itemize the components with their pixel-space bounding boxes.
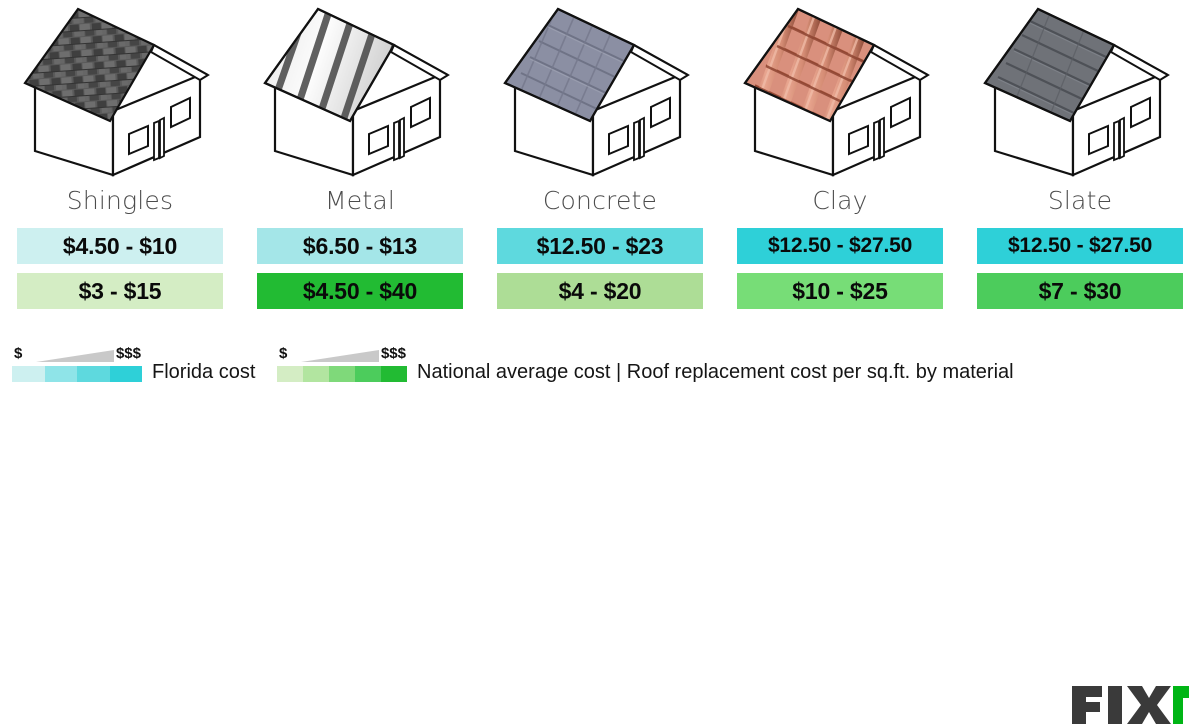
material-column-metal: Metal $6.50 - $13 $4.50 - $40 xyxy=(240,0,480,330)
price-bars: $12.50 - $27.50 $10 - $25 xyxy=(737,228,943,309)
legend-swatch xyxy=(12,366,45,382)
house-illustration-slate xyxy=(965,2,1195,184)
legend-high-symbol: $$$ xyxy=(116,345,141,362)
legend-swatch xyxy=(77,366,110,382)
material-column-clay: Clay $12.50 - $27.50 $10 - $25 xyxy=(720,0,960,330)
house-illustration-shingles xyxy=(5,2,235,184)
house-illustration-concrete xyxy=(485,2,715,184)
material-columns: Shingles $4.50 - $10 $3 - $15 xyxy=(0,0,1200,330)
material-column-shingles: Shingles $4.50 - $10 $3 - $15 xyxy=(0,0,240,330)
house-illustration-clay xyxy=(725,2,955,184)
florida-cost-bar: $6.50 - $13 xyxy=(257,228,463,264)
florida-cost-bar: $4.50 - $10 xyxy=(17,228,223,264)
legend-high-symbol: $$$ xyxy=(381,345,406,362)
slate-roof-icon xyxy=(972,3,1188,183)
material-column-slate: Slate $12.50 - $27.50 $7 - $30 xyxy=(960,0,1200,330)
roof-cost-infographic: Shingles $4.50 - $10 $3 - $15 xyxy=(0,0,1200,401)
legend-low-symbol: $ xyxy=(14,345,22,362)
increasing-wedge-icon xyxy=(301,350,379,363)
legend-florida-swatches xyxy=(12,366,142,382)
national-cost-bar: $7 - $30 xyxy=(977,273,1183,309)
legend-swatch xyxy=(381,366,407,382)
fixr-logo[interactable] xyxy=(1070,682,1190,728)
legend-national-swatches xyxy=(277,366,407,382)
material-label: Clay xyxy=(812,188,867,213)
price-bars: $12.50 - $23 $4 - $20 xyxy=(497,228,703,309)
legend-low-symbol: $ xyxy=(279,345,287,362)
house-illustration-metal xyxy=(245,2,475,184)
legend-swatch xyxy=(110,366,143,382)
metal-roof-icon xyxy=(252,3,468,183)
price-bars: $4.50 - $10 $3 - $15 xyxy=(17,228,223,309)
legend-national-label: National average cost | Roof replacement… xyxy=(417,361,1014,384)
legend-florida-label: Florida cost xyxy=(152,361,255,384)
material-label: Shingles xyxy=(67,188,173,213)
national-cost-bar: $10 - $25 xyxy=(737,273,943,309)
material-label: Metal xyxy=(325,188,395,213)
concrete-roof-icon xyxy=(492,3,708,183)
material-column-concrete: Concrete $12.50 - $23 $4 - $20 xyxy=(480,0,720,330)
national-cost-bar: $4 - $20 xyxy=(497,273,703,309)
increasing-wedge-icon xyxy=(36,350,114,363)
legend-swatch xyxy=(329,366,355,382)
material-label: Concrete xyxy=(543,188,657,213)
florida-cost-bar: $12.50 - $27.50 xyxy=(977,228,1183,264)
florida-cost-bar: $12.50 - $23 xyxy=(497,228,703,264)
legend-national: $ $$$ National average cost | Roof repla… xyxy=(277,344,1014,382)
legend-swatch xyxy=(45,366,78,382)
legend-national-scale-top: $ $$$ xyxy=(277,344,407,366)
legend-national-scale: $ $$$ xyxy=(277,344,407,382)
legend-florida-scale: $ $$$ xyxy=(12,344,142,382)
legend-swatch xyxy=(355,366,381,382)
price-bars: $12.50 - $27.50 $7 - $30 xyxy=(977,228,1183,309)
legend-swatch xyxy=(277,366,303,382)
national-cost-bar: $3 - $15 xyxy=(17,273,223,309)
florida-cost-bar: $12.50 - $27.50 xyxy=(737,228,943,264)
legend-florida: $ $$$ Florida cost xyxy=(12,344,255,382)
shingles-roof-icon xyxy=(12,3,228,183)
price-bars: $6.50 - $13 $4.50 - $40 xyxy=(257,228,463,309)
legend-swatch xyxy=(303,366,329,382)
fixr-wordmark xyxy=(1072,686,1189,724)
legend-florida-scale-top: $ $$$ xyxy=(12,344,142,366)
material-label: Slate xyxy=(1048,188,1112,213)
clay-roof-icon xyxy=(732,3,948,183)
legend: $ $$$ Florida cost $ $$$ xyxy=(0,336,1200,401)
national-cost-bar: $4.50 - $40 xyxy=(257,273,463,309)
